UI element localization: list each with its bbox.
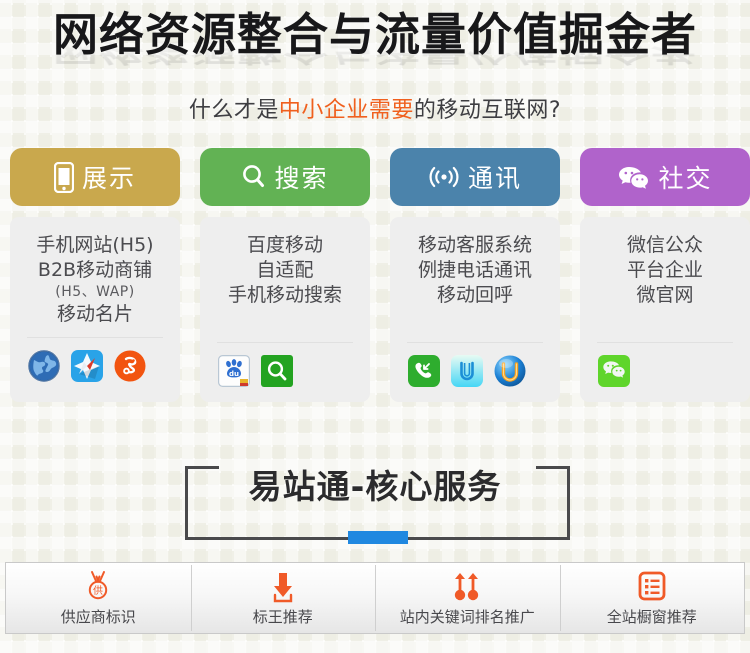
card-line: 例捷电话通讯: [418, 258, 532, 283]
card-text-lines: 手机网站(H5) B2B移动商铺 (H5、WAP) 移动名片: [36, 233, 153, 327]
card-line: (H5、WAP): [36, 283, 153, 301]
u-sphere-icon[interactable]: [494, 355, 526, 387]
compass-safari-icon[interactable]: [71, 350, 103, 382]
card-line: 移动客服系统: [418, 233, 532, 258]
feature-cards: 展示 手机网站(H5) B2B移动商铺 (H5、WAP) 移动名片: [0, 148, 750, 436]
bottom-item-label: 站内关键词排名推广: [400, 606, 535, 627]
card-line: 自适配: [228, 258, 342, 283]
card-header-label: 社交: [658, 159, 712, 195]
card-app-icons: [588, 355, 742, 387]
card-line: B2B移动商铺: [36, 258, 153, 283]
wechat-app-icon[interactable]: [598, 355, 630, 387]
card-header-label: 搜索: [274, 159, 328, 195]
signal-broadcast-icon: [428, 165, 460, 189]
card-display[interactable]: 展示 手机网站(H5) B2B移动商铺 (H5、WAP) 移动名片: [10, 148, 180, 402]
card-line: 手机移动搜索: [228, 283, 342, 308]
card-divider: [407, 342, 543, 343]
wechat-bubbles-icon: [617, 164, 650, 190]
card-text-lines: 移动客服系统 例捷电话通讯 移动回呼: [418, 233, 532, 308]
list-window-icon: [636, 570, 668, 604]
bottom-item-label: 供应商标识: [61, 606, 136, 627]
magnifier-icon: [241, 164, 266, 190]
card-line: 微信公众: [627, 233, 703, 258]
card-line: 平台企业: [627, 258, 703, 283]
page-title-reflection: 网络资源整合与流量价值掘金者: [0, 35, 750, 67]
bottom-item-topbid[interactable]: 标王推荐: [191, 563, 376, 633]
card-communication[interactable]: 通讯 移动客服系统 例捷电话通讯 移动回呼: [390, 148, 560, 402]
card-app-icons: [18, 350, 172, 382]
core-service-section: 易站通-核心服务: [0, 452, 750, 548]
green-search-icon[interactable]: [261, 355, 293, 387]
card-app-icons: [398, 355, 552, 387]
mobile-phone-icon: [54, 162, 74, 193]
green-phone-icon[interactable]: [408, 355, 440, 387]
card-text-lines: 百度移动 自适配 手机移动搜索: [228, 233, 342, 308]
card-app-icons: du: [208, 355, 362, 387]
section-title: 易站通-核心服务: [0, 460, 750, 508]
card-text-lines: 微信公众 平台企业 微官网: [627, 233, 703, 308]
card-line: 移动名片: [36, 302, 153, 327]
card-line: 百度移动: [228, 233, 342, 258]
bottom-item-supplier[interactable]: 供 供应商标识: [6, 563, 191, 633]
subtitle-text-accent: 中小企业需要: [279, 98, 414, 123]
bottom-item-label: 全站橱窗推荐: [607, 606, 697, 627]
card-social[interactable]: 社交 微信公众 平台企业 微官网: [580, 148, 750, 402]
card-header-communication[interactable]: 通讯: [390, 148, 560, 206]
card-header-label: 展示: [82, 159, 136, 195]
card-divider: [217, 342, 353, 343]
service-bottom-bar: 供 供应商标识 标王推荐 站内关键词排名推广: [5, 562, 745, 634]
card-line: 移动回呼: [418, 283, 532, 308]
card-divider: [27, 337, 163, 338]
hero-section: 网络资源整合与流量价值掘金者 网络资源整合与流量价值掘金者 什么才是中小企业需要…: [0, 0, 750, 140]
card-divider: [597, 342, 733, 343]
baidu-paw-icon[interactable]: du: [218, 355, 250, 387]
globe-browser-icon[interactable]: [28, 350, 60, 382]
bottom-item-showcase[interactable]: 全站橱窗推荐: [560, 563, 745, 633]
card-body-display: 手机网站(H5) B2B移动商铺 (H5、WAP) 移动名片: [10, 217, 180, 402]
svg-text:du: du: [229, 370, 239, 378]
card-body-search: 百度移动 自适配 手机移动搜索 du: [200, 217, 370, 402]
frame-accent-block: [348, 531, 408, 544]
page-subtitle: 什么才是中小企业需要的移动互联网?: [0, 92, 750, 124]
card-line: 微官网: [627, 283, 703, 308]
u-light-blue-icon[interactable]: [451, 355, 483, 387]
svg-text:供: 供: [93, 583, 103, 596]
card-header-label: 通讯: [468, 159, 522, 195]
card-line: 手机网站(H5): [36, 233, 153, 258]
card-header-social[interactable]: 社交: [580, 148, 750, 206]
subtitle-text-before: 什么才是: [189, 98, 279, 123]
download-arrow-icon: [268, 570, 298, 604]
uc-browser-icon[interactable]: [114, 350, 146, 382]
card-header-search[interactable]: 搜索: [200, 148, 370, 206]
subtitle-text-after: 的移动互联网?: [414, 98, 561, 123]
bottom-item-keyword-ranking[interactable]: 站内关键词排名推广: [375, 563, 560, 633]
supplier-medal-icon: 供: [83, 570, 113, 604]
bottom-item-label: 标王推荐: [253, 606, 313, 627]
card-body-communication: 移动客服系统 例捷电话通讯 移动回呼: [390, 217, 560, 402]
card-body-social: 微信公众 平台企业 微官网: [580, 217, 750, 402]
card-search[interactable]: 搜索 百度移动 自适配 手机移动搜索 du: [200, 148, 370, 402]
card-header-display[interactable]: 展示: [10, 148, 180, 206]
up-arrows-icon: [450, 570, 484, 604]
